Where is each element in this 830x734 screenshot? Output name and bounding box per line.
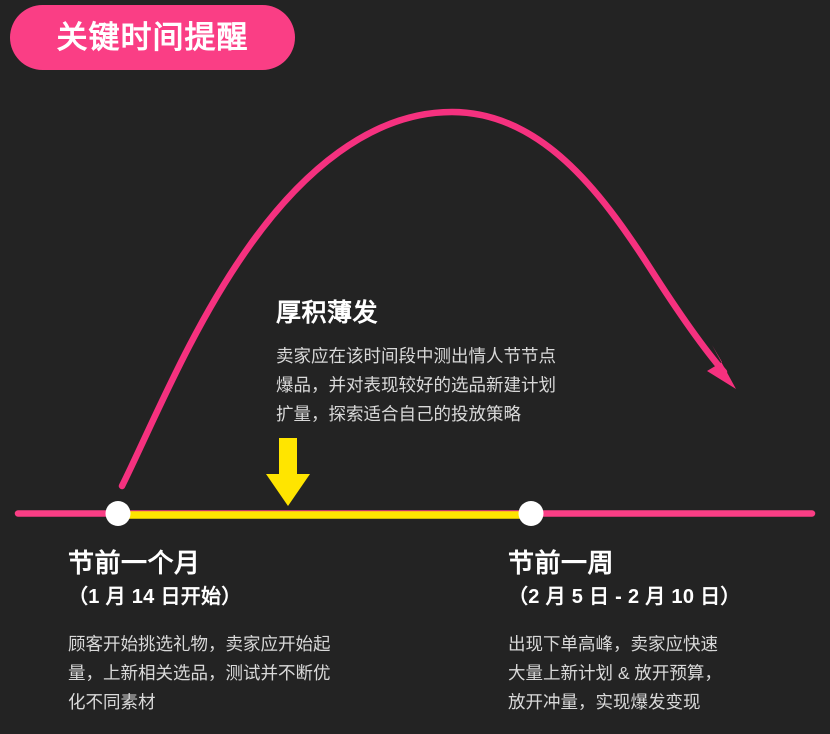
mid-annotation-body-line: 扩量，探索适合自己的投放策略 [276, 400, 606, 429]
milestone-one-week-before: 节前一周 （2 月 5 日 - 2 月 10 日） 出现下单高峰，卖家应快速 大… [508, 549, 830, 717]
milestone-body-line: 出现下单高峰，卖家应快速 [508, 630, 830, 659]
infographic-canvas: 关键时间提醒 厚积薄发 卖家应在该时间段中测出情人节节点 爆品，并对表现较好的选… [0, 0, 830, 734]
mid-annotation-heading: 厚积薄发 [276, 298, 606, 328]
milestone-date: （2 月 5 日 - 2 月 10 日） [508, 585, 830, 609]
milestone-title: 节前一个月 [68, 549, 408, 579]
milestone-body-line: 量，上新相关选品，测试并不断优 [68, 659, 408, 688]
milestone-body-line: 放开冲量，实现爆发变现 [508, 688, 830, 717]
mid-annotation-body-line: 卖家应在该时间段中测出情人节节点 [276, 342, 606, 371]
node-one-month-before[interactable] [106, 501, 131, 526]
mid-annotation-body-line: 爆品，并对表现较好的选品新建计划 [276, 371, 606, 400]
milestone-one-month-before: 节前一个月 （1 月 14 日开始） 顾客开始挑选礼物，卖家应开始起 量，上新相… [68, 549, 408, 717]
milestone-body-line: 化不同素材 [68, 688, 408, 717]
milestone-body: 顾客开始挑选礼物，卖家应开始起 量，上新相关选品，测试并不断优 化不同素材 [68, 630, 408, 717]
arrow-down-icon [266, 438, 310, 506]
milestone-body-line: 大量上新计划 & 放开预算， [508, 659, 830, 688]
mid-annotation: 厚积薄发 卖家应在该时间段中测出情人节节点 爆品，并对表现较好的选品新建计划 扩… [276, 298, 606, 429]
milestone-title: 节前一周 [508, 549, 830, 579]
milestone-body: 出现下单高峰，卖家应快速 大量上新计划 & 放开预算， 放开冲量，实现爆发变现 [508, 630, 830, 717]
mid-annotation-body: 卖家应在该时间段中测出情人节节点 爆品，并对表现较好的选品新建计划 扩量，探索适… [276, 342, 606, 429]
node-one-week-before[interactable] [519, 501, 544, 526]
milestone-date: （1 月 14 日开始） [68, 585, 408, 609]
milestone-body-line: 顾客开始挑选礼物，卖家应开始起 [68, 630, 408, 659]
